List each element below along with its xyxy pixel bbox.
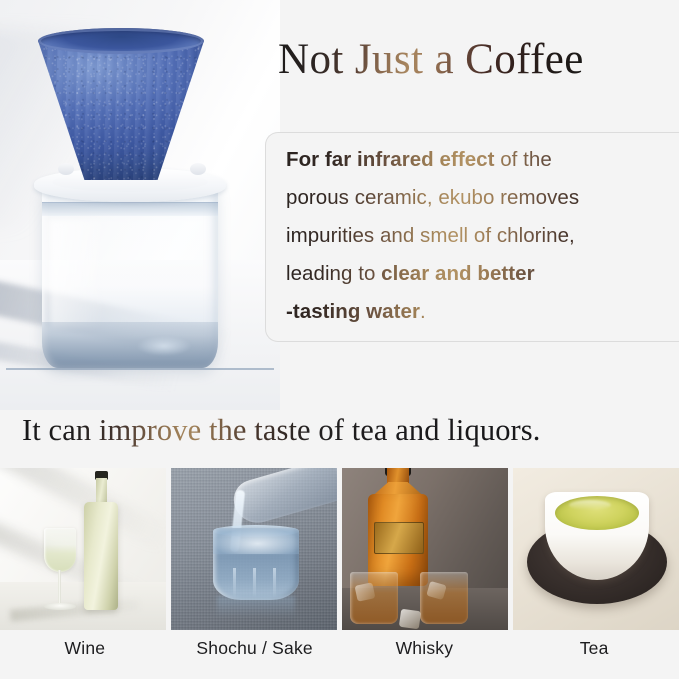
wine-glass-bowl — [44, 528, 76, 572]
label-whisky: Whisky — [340, 634, 510, 679]
wine-bottle-body — [84, 502, 118, 610]
glass-highlight — [50, 220, 102, 328]
whisky-tumbler-right — [420, 572, 468, 624]
product-infographic: Not Just a Coffee For far infrared effec… — [0, 0, 679, 679]
thumbnail-shochu-sake — [171, 468, 337, 630]
page-title: Not Just a Coffee — [278, 36, 584, 84]
sake-cup-facet-2 — [253, 568, 256, 598]
sake-cup-facet-3 — [273, 568, 276, 598]
whisky-ice-cube-3 — [399, 609, 421, 630]
callout-span: impurities and smell of chlorine, — [286, 224, 575, 247]
tea-surface-highlight — [569, 500, 611, 510]
glass-base-ring — [6, 368, 274, 370]
sake-cup-facet-1 — [233, 568, 236, 598]
callout-line: For far infrared effect of the — [286, 141, 662, 179]
label-shochu-sake: Shochu / Sake — [170, 634, 340, 679]
callout-line: porous ceramic, ekubo removes — [286, 179, 662, 217]
cone-opening-rim — [38, 28, 204, 54]
label-wine: Wine — [0, 634, 170, 679]
callout-emphasis: -tasting water — [286, 300, 420, 323]
sake-cut-glass-cup — [213, 528, 299, 600]
cone-foot-left — [58, 163, 74, 175]
callout-emphasis: clear and better — [381, 262, 534, 285]
sake-cup-reflection — [217, 596, 295, 618]
tagline: It can improve the taste of tea and liqu… — [22, 412, 541, 449]
label-tea: Tea — [509, 634, 679, 679]
thumbnail-wine — [0, 468, 166, 630]
callout-text: For far infrared effect of theporous cer… — [286, 141, 662, 331]
wine-glass-foot — [44, 603, 76, 610]
callout-span: . — [420, 300, 426, 323]
water-surface-line — [42, 202, 218, 216]
callout-span: leading to — [286, 262, 381, 285]
hero-product-photo — [0, 0, 280, 410]
wine-glass-stem — [58, 570, 61, 606]
use-case-thumbnail-strip — [0, 468, 679, 630]
callout-span: porous ceramic, ekubo removes — [286, 186, 579, 209]
cone-foot-right — [190, 163, 206, 175]
callout-span: of the — [494, 148, 551, 171]
callout-line: impurities and smell of chlorine, — [286, 217, 662, 255]
callout-emphasis: For far infrared effect — [286, 148, 494, 171]
use-case-labels: Wine Shochu / Sake Whisky Tea — [0, 634, 679, 679]
thumbnail-whisky — [342, 468, 508, 630]
whisky-bottle-label — [374, 522, 424, 554]
glass-tumbler — [42, 186, 218, 368]
thumbnail-tea — [513, 468, 679, 630]
callout-line: leading to clear and better — [286, 255, 662, 293]
callout-line: -tasting water. — [286, 293, 662, 331]
glass-base-specular — [136, 336, 192, 356]
sake-cup-liquid — [213, 528, 299, 554]
